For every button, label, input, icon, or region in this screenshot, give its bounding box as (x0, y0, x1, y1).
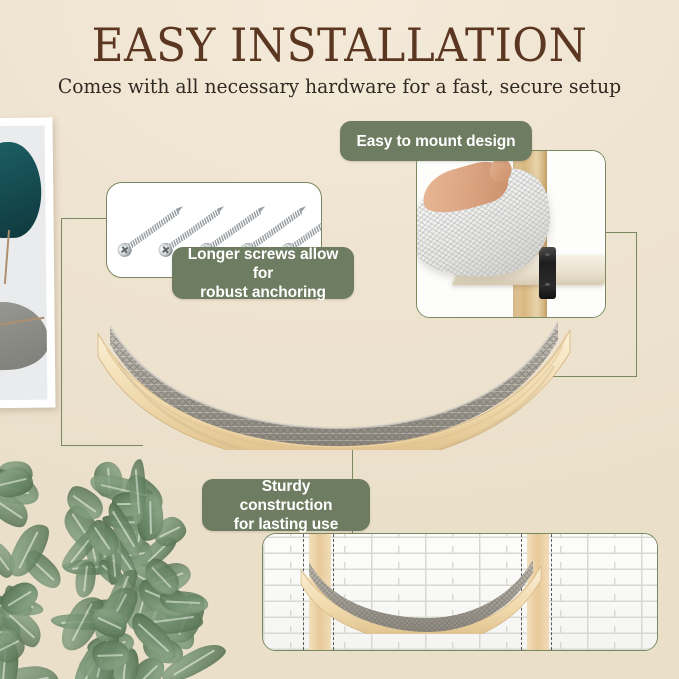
mounted-hammock-illustration (297, 558, 557, 634)
infographic-canvas: EASY INSTALLATION Comes with all necessa… (0, 0, 679, 679)
teal-leaf-shape (0, 142, 42, 239)
callout-easy-to-mount-line-1: Easy to mount design (356, 132, 515, 151)
screw-tip (259, 205, 267, 212)
framed-wall-art (0, 118, 56, 409)
callout-longer-screws: Longer screws allow for robust anchoring (172, 247, 354, 299)
page-title: EASY INSTALLATION (17, 0, 662, 72)
page-subtitle: Comes with all necessary hardware for a … (14, 74, 666, 100)
curved-cat-hammock (88, 318, 580, 450)
callout-sturdy-construction-line-2: for lasting use (216, 515, 356, 534)
screw-tip (218, 205, 226, 212)
mounted-hammock (297, 558, 557, 634)
mount-scene (417, 151, 605, 317)
art-mat (0, 126, 47, 401)
callout-longer-screws-line-1: Longer screws allow for (186, 245, 340, 283)
callout-easy-to-mount: Easy to mount design (340, 121, 532, 161)
house-plant (0, 436, 224, 679)
wall-mounted-photo (262, 533, 658, 651)
product-illustration (88, 318, 580, 450)
gray-leaf-shape (0, 302, 47, 371)
screw-tip (177, 205, 185, 212)
metal-bracket (539, 247, 556, 299)
callout-sturdy-construction: Sturdy construction for lasting use (202, 479, 370, 531)
callout-longer-screws-line-2: robust anchoring (186, 283, 340, 302)
screw-tip (300, 205, 308, 212)
leaf-stem-upper (4, 230, 10, 284)
header: EASY INSTALLATION Comes with all necessa… (0, 0, 679, 100)
callout-sturdy-construction-line-1: Sturdy construction (216, 477, 356, 515)
mounting-demo-photo (416, 150, 606, 318)
